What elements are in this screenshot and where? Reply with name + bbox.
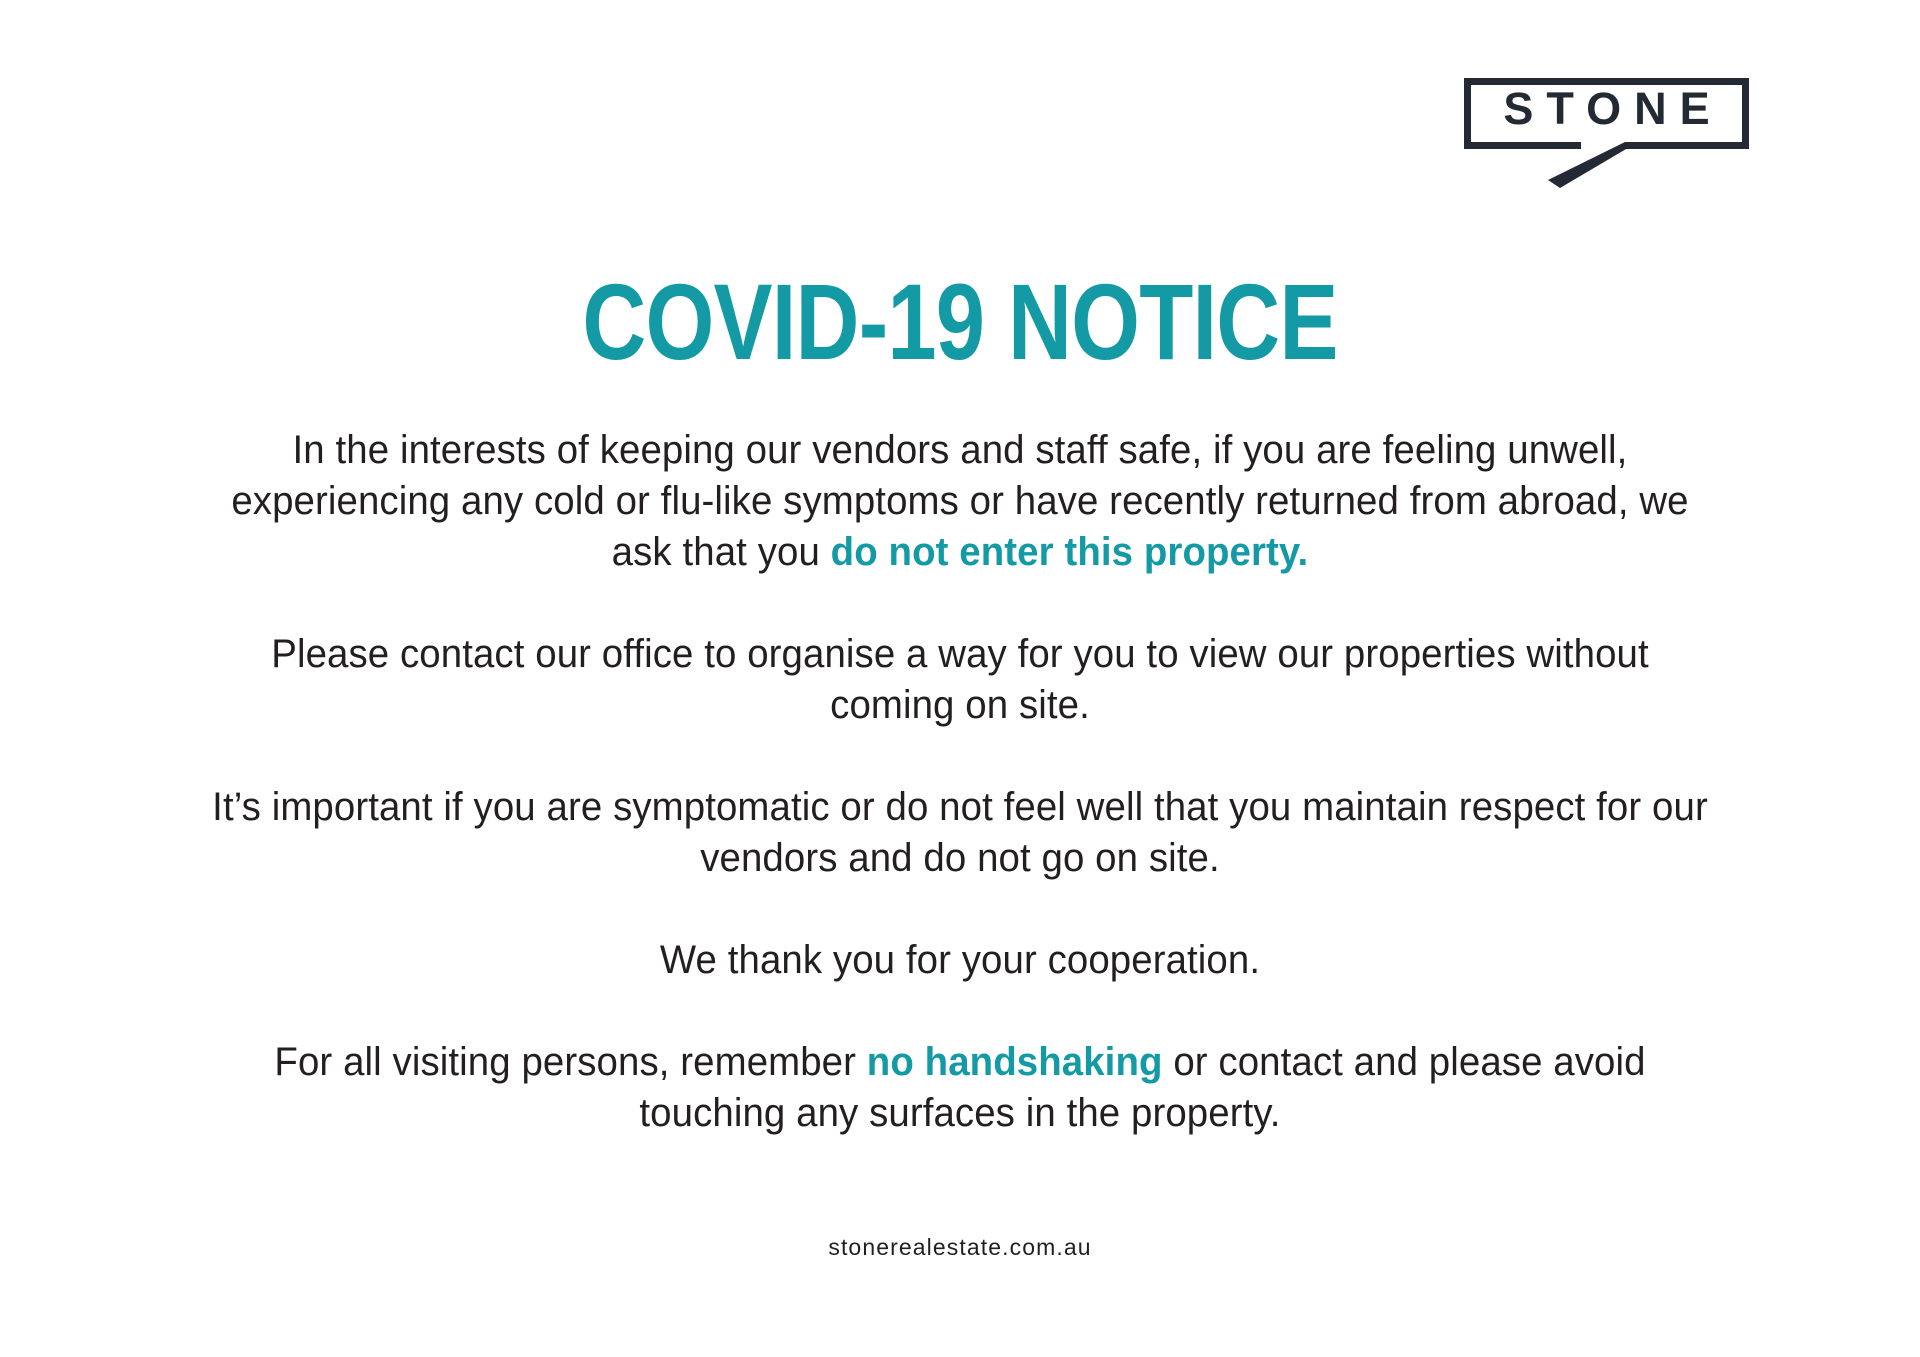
- stone-logo: STONE: [1460, 70, 1770, 195]
- stone-wordmark: STONE: [1460, 70, 1753, 146]
- covid-notice-poster: STONE COVID-19 NOTICE In the interests o…: [0, 0, 1920, 1357]
- paragraph-5: For all visiting persons, remember no ha…: [206, 1037, 1713, 1139]
- notice-body: In the interests of keeping our vendors …: [175, 425, 1745, 1139]
- body-text-run: We thank you for your cooperation.: [660, 938, 1260, 982]
- body-text-run: It’s important if you are symptomatic or…: [212, 785, 1708, 880]
- paragraph-4: We thank you for your cooperation.: [206, 935, 1713, 986]
- paragraph-3: It’s important if you are symptomatic or…: [206, 782, 1713, 884]
- body-text-run: For all visiting persons, remember: [274, 1040, 866, 1084]
- paragraph-2: Please contact our office to organise a …: [206, 629, 1713, 731]
- footer-website: stonerealestate.com.au: [0, 1234, 1920, 1261]
- page-title: COVID-19 NOTICE: [173, 268, 1747, 376]
- body-text-run: Please contact our office to organise a …: [271, 632, 1649, 727]
- paragraph-1: In the interests of keeping our vendors …: [206, 425, 1713, 578]
- emphasised-phrase: no handshaking: [867, 1040, 1163, 1084]
- emphasised-phrase: do not enter this property.: [831, 530, 1309, 574]
